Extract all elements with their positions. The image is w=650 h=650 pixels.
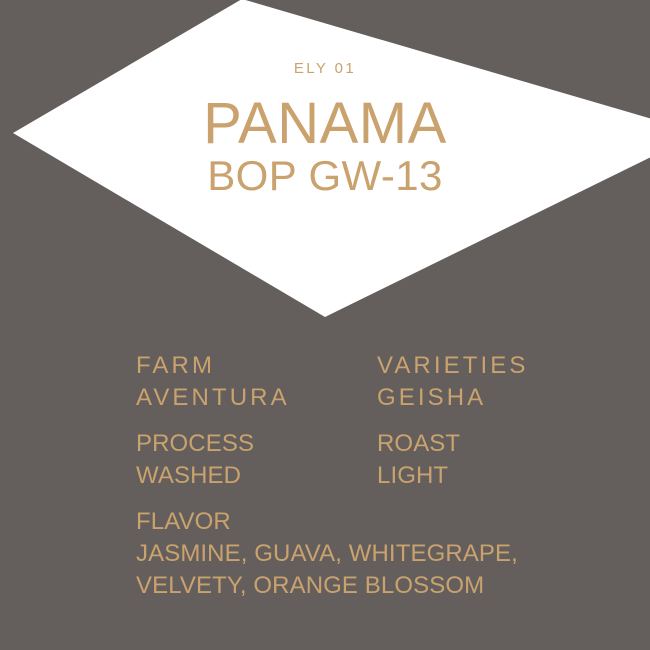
spec-label-farm: FARM <box>136 350 377 382</box>
spec-label-varieties: VARIETIES <box>377 350 618 382</box>
spec-item-varieties: VARIETIES GEISHA <box>377 350 618 414</box>
spec-item-process: PROCESS WASHED <box>136 428 377 492</box>
spec-item-flavor: FLAVOR JASMINE, GUAVA, WHITEGRAPE, VELVE… <box>136 506 616 602</box>
lot-eyebrow: ELY 01 <box>0 61 650 76</box>
spec-item-farm: FARM AVENTURA <box>136 350 377 414</box>
spec-value-flavor-line-1: JASMINE, GUAVA, WHITEGRAPE, <box>136 538 616 570</box>
spec-label-flavor: FLAVOR <box>136 506 616 538</box>
spec-label-process: PROCESS <box>136 428 377 460</box>
spec-value-roast: LIGHT <box>377 460 618 492</box>
spec-item-roast: ROAST LIGHT <box>377 428 618 492</box>
spec-grid: FARM AVENTURA VARIETIES GEISHA PROCESS W… <box>136 350 616 602</box>
spec-value-flavor-line-2: VELVETY, ORANGE BLOSSOM <box>136 570 616 602</box>
spec-row: FLAVOR JASMINE, GUAVA, WHITEGRAPE, VELVE… <box>136 506 616 602</box>
spec-row: PROCESS WASHED ROAST LIGHT <box>136 428 616 492</box>
banner-text-group: ELY 01 PANAMA BOP GW-13 <box>0 0 650 330</box>
spec-value-farm: AVENTURA <box>136 382 377 414</box>
page-title: PANAMA <box>0 95 650 153</box>
lot-subtitle: BOP GW-13 <box>0 155 650 197</box>
spec-row: FARM AVENTURA VARIETIES GEISHA <box>136 350 616 414</box>
coffee-label-card: ELY 01 PANAMA BOP GW-13 FARM AVENTURA VA… <box>0 0 650 650</box>
spec-label-roast: ROAST <box>377 428 618 460</box>
spec-value-process: WASHED <box>136 460 377 492</box>
header-banner: ELY 01 PANAMA BOP GW-13 <box>0 0 650 330</box>
spec-value-varieties: GEISHA <box>377 382 618 414</box>
